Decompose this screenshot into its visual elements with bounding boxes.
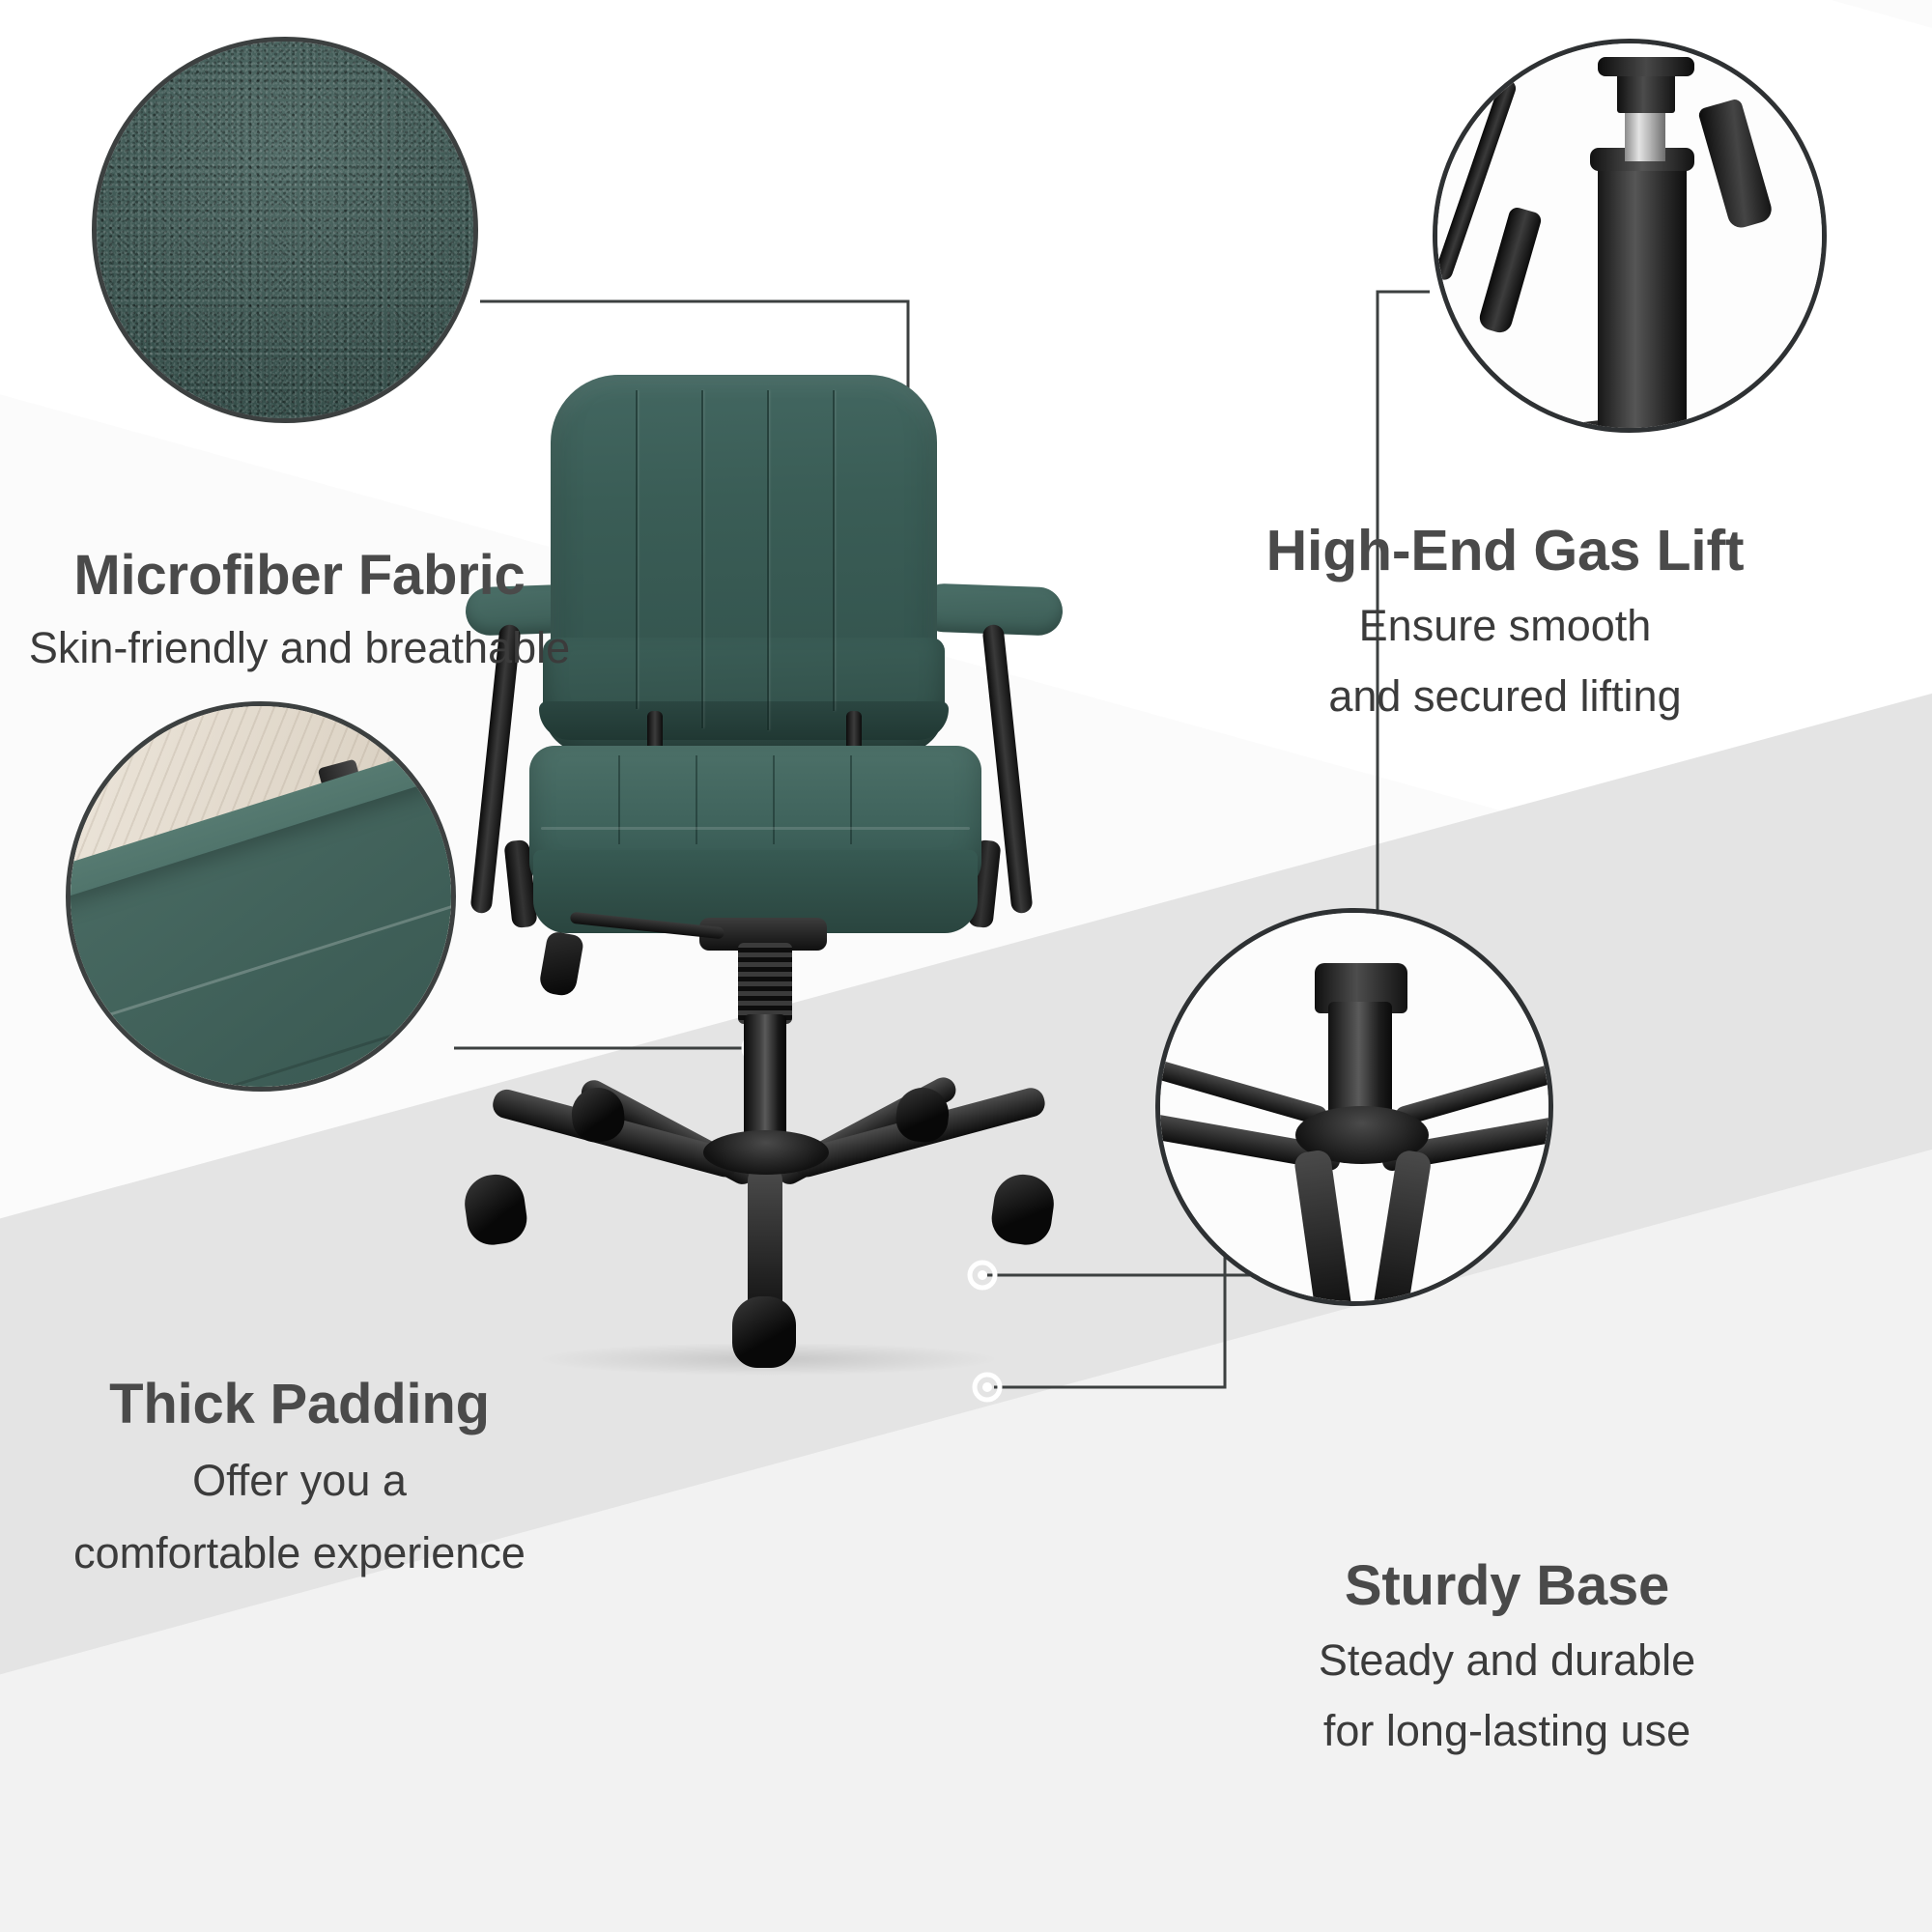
feature-sturdy-base: Sturdy Base Steady and durable for long-…: [1082, 1557, 1932, 1757]
feature-subtitle-gaslift-line1: Ensure smooth: [1080, 600, 1930, 651]
chair-backrest-edge: [539, 701, 949, 740]
feature-high-end-gas-lift: High-End Gas Lift Ensure smooth and secu…: [1080, 522, 1930, 723]
backrest-channel-2: [701, 390, 703, 728]
caster-left: [461, 1171, 529, 1248]
caster-front: [732, 1296, 796, 1368]
feature-subtitle-gaslift-line2: and secured lifting: [1080, 670, 1930, 722]
feature-title-padding: Thick Padding: [0, 1376, 599, 1434]
gas-lift-cylinder-body: [1598, 157, 1687, 433]
infographic-canvas: Microfiber Fabric Skin-friendly and brea…: [0, 0, 1932, 1932]
seat-seam-line: [541, 827, 970, 830]
microfiber-texture-swatch: [97, 42, 473, 418]
seat-tuft-2: [696, 755, 697, 844]
backrest-channel-3: [767, 390, 769, 730]
feature-title-base: Sturdy Base: [1082, 1557, 1932, 1615]
detail-circle-sturdy-base: [1155, 908, 1553, 1306]
feature-subtitle-padding-line2: comfortable experience: [0, 1527, 599, 1578]
feature-subtitle-base-line2: for long-lasting use: [1082, 1705, 1932, 1756]
backrest-channel-1: [636, 390, 638, 709]
gas-cylinder-spring: [738, 943, 792, 1024]
detail-circle-gas-lift: [1433, 39, 1827, 433]
backrest-channel-4: [833, 390, 835, 711]
detail-circle-thick-padding: [66, 701, 456, 1092]
feature-title-microfiber: Microfiber Fabric: [0, 547, 599, 605]
detail-circle-microfiber-fabric: [92, 37, 478, 423]
office-chair-illustration: [425, 357, 1121, 1546]
caster-right: [988, 1171, 1057, 1248]
tilt-lever-knob: [538, 930, 585, 998]
feature-subtitle-microfiber: Skin-friendly and breathable: [0, 622, 599, 673]
feature-subtitle-base-line1: Steady and durable: [1082, 1634, 1932, 1686]
feature-title-gaslift: High-End Gas Lift: [1080, 522, 1930, 581]
feature-subtitle-padding-line1: Offer you a: [0, 1455, 599, 1506]
seat-tuft-1: [618, 755, 620, 844]
seat-tuft-3: [773, 755, 775, 844]
gas-lift-top-mount: [1598, 57, 1694, 76]
chair-gas-cylinder: [744, 1014, 786, 1150]
seat-tuft-4: [850, 755, 852, 844]
chair-base-hub: [703, 1130, 829, 1175]
feature-microfiber-fabric: Microfiber Fabric Skin-friendly and brea…: [0, 547, 599, 673]
feature-thick-padding: Thick Padding Offer you a comfortable ex…: [0, 1376, 599, 1579]
